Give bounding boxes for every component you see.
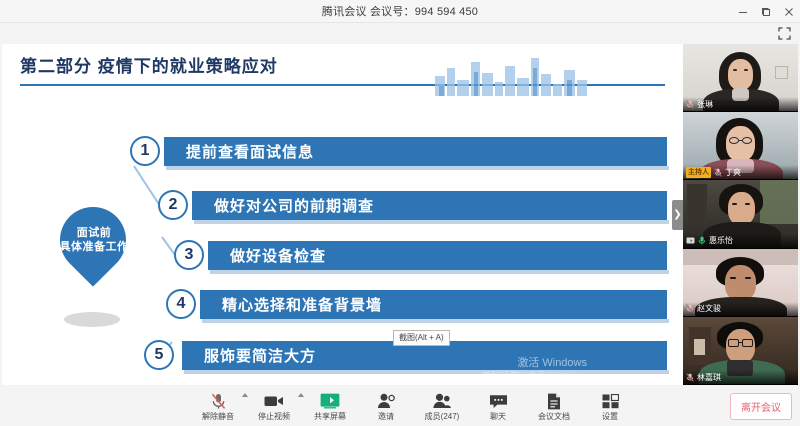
toolbar-item-meeting-doc[interactable]: 会议文档 bbox=[526, 389, 582, 422]
participant-label: 张琳 bbox=[683, 97, 798, 111]
window-controls bbox=[731, 0, 800, 23]
participant-name: 赵文骏 bbox=[697, 303, 721, 314]
minimize-button[interactable] bbox=[731, 0, 754, 23]
camera-icon bbox=[264, 392, 284, 410]
toolbar-item-unmute[interactable]: 解除静音 bbox=[190, 389, 246, 422]
item-number: 5 bbox=[144, 340, 174, 370]
list-item[interactable]: 精心选择和准备背景墙 4 bbox=[2, 290, 683, 319]
participant-name: 惠乐怡 bbox=[709, 235, 733, 246]
mic-muted-icon bbox=[686, 304, 694, 313]
item-text: 精心选择和准备背景墙 bbox=[200, 294, 382, 315]
leave-meeting-button[interactable]: 离开会议 bbox=[730, 393, 792, 420]
screen-share-icon bbox=[686, 237, 695, 245]
mic-on-icon bbox=[698, 236, 706, 245]
item-bar: 精心选择和准备背景墙 bbox=[200, 290, 667, 319]
item-text: 做好对公司的前期调查 bbox=[192, 195, 374, 216]
item-bar-shadow bbox=[202, 319, 669, 323]
screen-share-icon bbox=[320, 392, 340, 410]
watermark-title: 激活 Windows bbox=[517, 357, 587, 369]
toolbar-item-stop-video[interactable]: 停止视频 bbox=[246, 389, 302, 422]
item-bar: 做好对公司的前期调查 bbox=[192, 191, 667, 220]
mic-muted-icon bbox=[686, 100, 694, 109]
host-badge: 主持人 bbox=[686, 167, 711, 178]
windows-activation-watermark: 激活 Windows 转到"设置"以激活 Windows。 bbox=[483, 354, 587, 381]
members-icon bbox=[432, 392, 452, 410]
participant-tile[interactable]: 惠乐怡 bbox=[683, 180, 798, 248]
skyline-decoration bbox=[433, 54, 593, 101]
pin-label-line2: 具体准备工作 bbox=[54, 240, 134, 254]
pin-label: 面试前 具体准备工作 bbox=[54, 226, 134, 254]
item-bar-shadow bbox=[210, 270, 669, 274]
item-text: 服饰要简洁大方 bbox=[182, 345, 316, 366]
participant-name: 丁爽 bbox=[725, 167, 741, 178]
maximize-restore-button[interactable] bbox=[754, 0, 777, 23]
toolbar-label: 聊天 bbox=[490, 411, 506, 422]
fullscreen-icon[interactable] bbox=[777, 26, 792, 41]
item-bar-shadow bbox=[184, 370, 669, 374]
tencent-meeting-window: 腾讯会议 会议号：994 594 450 bbox=[0, 0, 800, 426]
meeting-sub-bar bbox=[0, 23, 800, 44]
participant-label: 惠乐怡 bbox=[683, 234, 798, 248]
item-bar: 做好设备检查 bbox=[208, 241, 667, 270]
item-bar-shadow bbox=[166, 166, 669, 170]
participant-name: 张琳 bbox=[697, 99, 713, 110]
settings-grid-icon bbox=[602, 392, 619, 410]
item-text: 提前查看面试信息 bbox=[164, 141, 314, 162]
participant-name: 林嘉琪 bbox=[697, 372, 721, 383]
item-text: 做好设备检查 bbox=[208, 245, 326, 266]
item-bar-shadow bbox=[194, 220, 669, 224]
participant-tile[interactable]: 林嘉琪 bbox=[683, 317, 798, 385]
participant-video-strip: 张琳 主持人 bbox=[683, 44, 798, 385]
document-icon bbox=[547, 392, 561, 410]
mic-muted-icon bbox=[714, 168, 722, 177]
participant-tile[interactable]: 主持人 丁爽 bbox=[683, 112, 798, 180]
item-number: 3 bbox=[174, 240, 204, 270]
toolbar-label: 邀请 bbox=[378, 411, 394, 422]
mic-muted-icon bbox=[686, 373, 694, 382]
list-item[interactable]: 做好对公司的前期调查 2 bbox=[2, 191, 683, 220]
meeting-stage: 第二部分 疫情下的就业策略应对 bbox=[2, 44, 798, 385]
watermark-subtitle: 转到"设置"以激活 Windows。 bbox=[483, 370, 587, 381]
list-item[interactable]: 提前查看面试信息 1 bbox=[2, 137, 683, 166]
item-bar: 提前查看面试信息 bbox=[164, 137, 667, 166]
close-button[interactable] bbox=[777, 0, 800, 23]
participant-label: 林嘉琪 bbox=[683, 370, 798, 384]
toolbar-item-share-screen[interactable]: 共享屏幕 bbox=[302, 389, 358, 422]
shared-screen-slide[interactable]: 第二部分 疫情下的就业策略应对 bbox=[2, 44, 683, 385]
screenshot-tooltip: 截图(Alt + A) bbox=[393, 330, 450, 346]
mic-muted-icon bbox=[211, 392, 226, 410]
participant-label: 主持人 丁爽 bbox=[683, 165, 798, 179]
toolbar-label: 会议文档 bbox=[538, 411, 570, 422]
title-bar: 腾讯会议 会议号：994 594 450 bbox=[0, 0, 800, 23]
participant-label: 赵文骏 bbox=[683, 302, 798, 316]
toolbar-items: 解除静音 停止视频 bbox=[190, 389, 638, 422]
item-number: 4 bbox=[166, 289, 196, 319]
toolbar-label: 停止视频 bbox=[258, 411, 290, 422]
chat-icon bbox=[489, 392, 508, 410]
toolbar-label: 设置 bbox=[602, 411, 618, 422]
toolbar-item-chat[interactable]: 聊天 bbox=[470, 389, 526, 422]
participant-tile[interactable]: 赵文骏 bbox=[683, 249, 798, 317]
collapse-video-panel-chevron-icon[interactable]: ❯ bbox=[672, 200, 683, 230]
toolbar-item-members[interactable]: 成员(247) bbox=[414, 389, 470, 422]
toolbar-label: 解除静音 bbox=[202, 411, 234, 422]
item-number: 1 bbox=[130, 136, 160, 166]
participant-tile[interactable]: 张琳 bbox=[683, 44, 798, 112]
item-number: 2 bbox=[158, 190, 188, 220]
toolbar-label: 共享屏幕 bbox=[314, 411, 346, 422]
window-title: 腾讯会议 会议号：994 594 450 bbox=[322, 3, 478, 19]
invite-user-icon bbox=[377, 392, 395, 410]
pin-label-line1: 面试前 bbox=[54, 226, 134, 240]
toolbar-item-settings[interactable]: 设置 bbox=[582, 389, 638, 422]
meeting-toolbar: 解除静音 停止视频 bbox=[0, 385, 800, 426]
toolbar-item-invite[interactable]: 邀请 bbox=[358, 389, 414, 422]
toolbar-label: 成员(247) bbox=[425, 411, 460, 422]
